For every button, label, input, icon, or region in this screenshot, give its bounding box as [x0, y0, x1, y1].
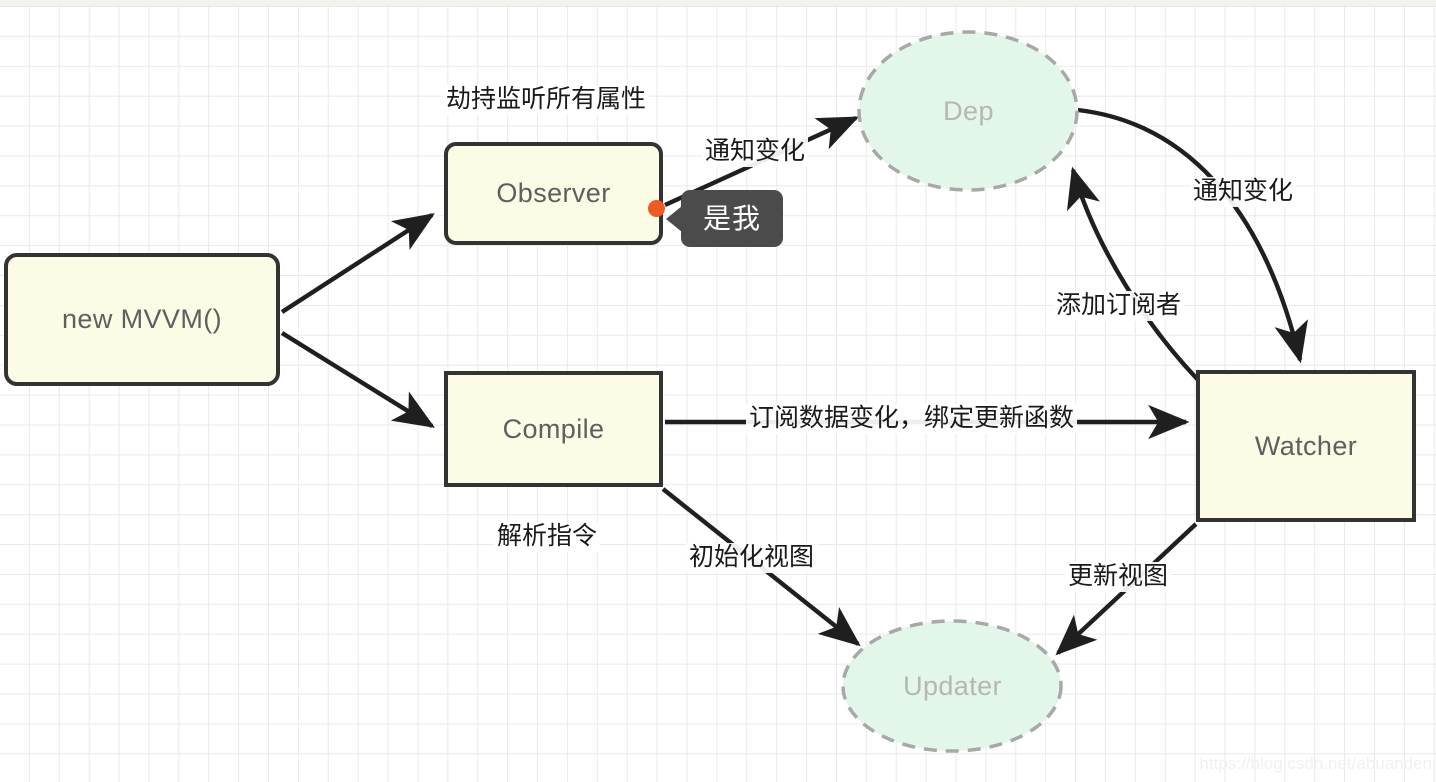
- annotation-tooltip[interactable]: 是我: [681, 190, 783, 247]
- watermark-text: https://blog.csdn.net/abuanden: [1199, 754, 1432, 774]
- edge-label-hijack-properties: 劫持监听所有属性: [443, 85, 649, 115]
- diagram-canvas: new MVVM() Observer Compile Watcher Dep …: [0, 0, 1436, 782]
- edge-label-update-view: 更新视图: [1065, 562, 1171, 592]
- edge-label-init-view: 初始化视图: [686, 543, 817, 573]
- edge-label-parse-directive: 解析指令: [494, 522, 600, 552]
- node-shape-observer[interactable]: [446, 144, 661, 243]
- node-shape-watcher[interactable]: [1198, 372, 1414, 520]
- edge-label-notify-change-dep: 通知变化: [1190, 177, 1296, 207]
- observer-anchor-dot[interactable]: [648, 200, 665, 217]
- nodes-layer: [0, 0, 1436, 782]
- node-shape-mvvm[interactable]: [6, 255, 278, 384]
- node-shape-updater[interactable]: [843, 621, 1061, 751]
- edge-label-add-subscriber: 添加订阅者: [1053, 291, 1184, 321]
- edge-label-notify-change-observer: 通知变化: [702, 137, 808, 167]
- node-shape-compile[interactable]: [446, 373, 661, 485]
- edge-label-subscribe-bind-update: 订阅数据变化，绑定更新函数: [746, 404, 1077, 434]
- node-shape-dep[interactable]: [859, 32, 1077, 190]
